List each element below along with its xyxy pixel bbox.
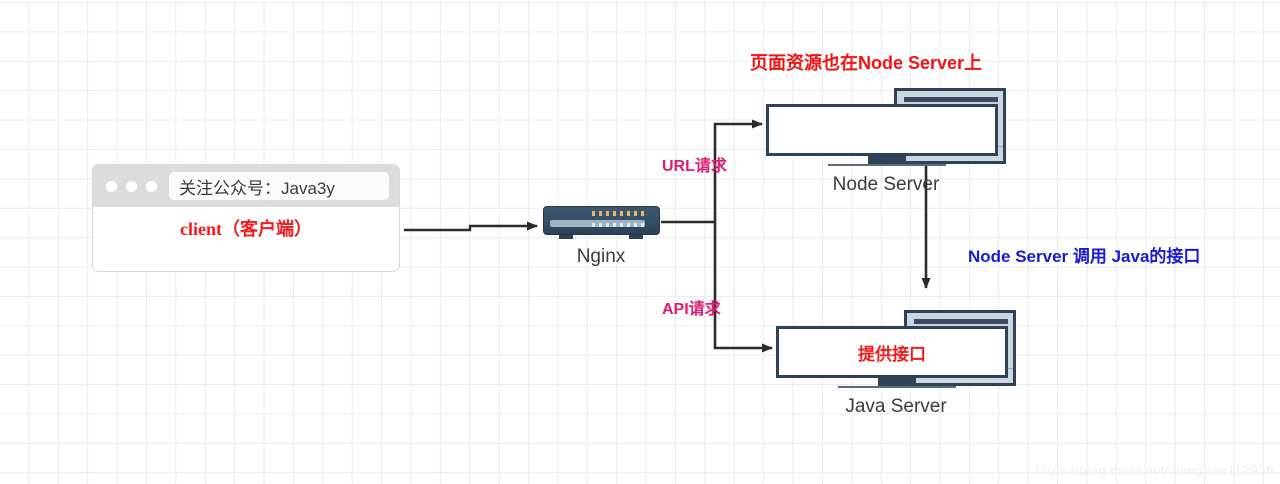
browser-content: client（客户端） [93, 207, 399, 272]
switch-white-leds [592, 223, 644, 227]
java-server-node[interactable]: 提供接口 Java Server [776, 310, 1016, 420]
client-label: client（客户端） [180, 215, 312, 241]
window-dot-icon [126, 181, 137, 192]
switch-amber-leds [592, 211, 644, 216]
node-server-caption: Node Server [766, 174, 1006, 196]
window-dot-icon [146, 181, 157, 192]
node-server-node[interactable]: Node Server [766, 88, 1006, 198]
tower-bar-icon [904, 97, 998, 102]
window-dot-icon [106, 181, 117, 192]
server-stand-base [838, 386, 956, 388]
nginx-switch-icon [543, 206, 660, 235]
nginx-label: Nginx [531, 246, 671, 268]
java-server-inner-label: 提供接口 [858, 340, 926, 365]
address-bar-input[interactable]: 关注公众号：Java3y [169, 172, 389, 200]
server-stand-base [828, 164, 946, 166]
window-dots [106, 181, 157, 192]
annotation-page-resources: 页面资源也在Node Server上 [750, 49, 982, 75]
browser-title-bar: 关注公众号：Java3y [93, 165, 399, 207]
client-browser-window[interactable]: 关注公众号：Java3y client（客户端） [92, 164, 400, 272]
edge-client-to-nginx [404, 226, 537, 230]
nginx-node[interactable]: Nginx [543, 206, 660, 235]
switch-foot-left [559, 235, 573, 239]
annotation-node-calls-java: Node Server 调用 Java的接口 [968, 242, 1200, 267]
diagram-canvas: 关注公众号：Java3y client（客户端） Nginx [0, 0, 1280, 484]
edge-label-api-request: API请求 [662, 295, 721, 319]
edge-api-request [715, 222, 772, 348]
java-server-caption: Java Server [776, 396, 1016, 418]
watermark: https://blog.csdn.net/wanghao112956 [1035, 462, 1274, 478]
tower-bar-icon [914, 319, 1008, 324]
java-server-screen: 提供接口 [776, 326, 1008, 378]
switch-foot-right [629, 235, 643, 239]
edge-label-url-request: URL请求 [662, 152, 727, 176]
node-server-screen [766, 104, 998, 156]
